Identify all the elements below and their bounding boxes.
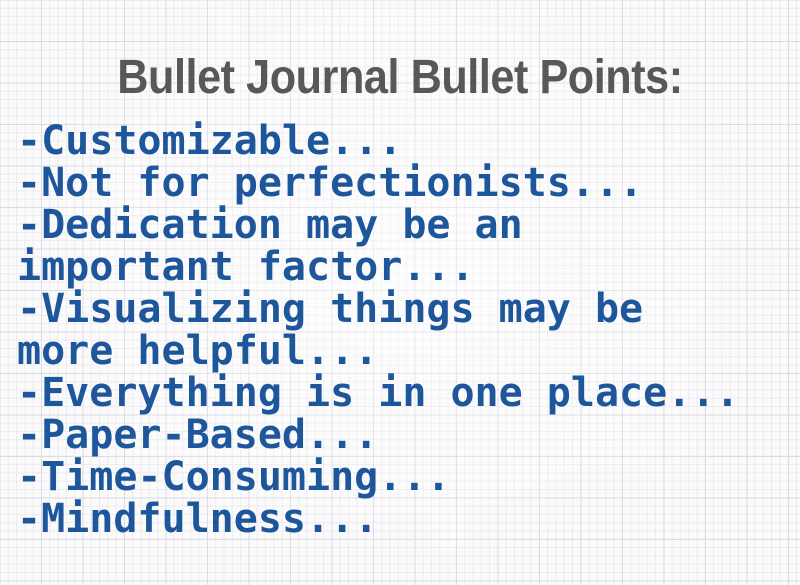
list-item: -Customizable...	[17, 120, 800, 162]
list-item: -Everything is in one place...	[17, 372, 800, 414]
slide-canvas: Bullet Journal Bullet Points: -Customiza…	[0, 0, 800, 585]
page-title: Bullet Journal Bullet Points:	[40, 50, 760, 106]
slide-content: Bullet Journal Bullet Points: -Customiza…	[0, 0, 800, 585]
list-item: -Paper-Based...	[17, 414, 800, 456]
bullet-point-list: -Customizable... -Not for perfectionists…	[17, 120, 800, 540]
list-item: -Visualizing things may be	[17, 288, 800, 330]
list-item: -Mindfulness...	[17, 498, 800, 540]
list-item: important factor...	[17, 246, 800, 288]
list-item: -Not for perfectionists...	[17, 162, 800, 204]
list-item: -Dedication may be an	[17, 204, 800, 246]
list-item: more helpful...	[17, 330, 800, 372]
list-item: -Time-Consuming...	[17, 456, 800, 498]
